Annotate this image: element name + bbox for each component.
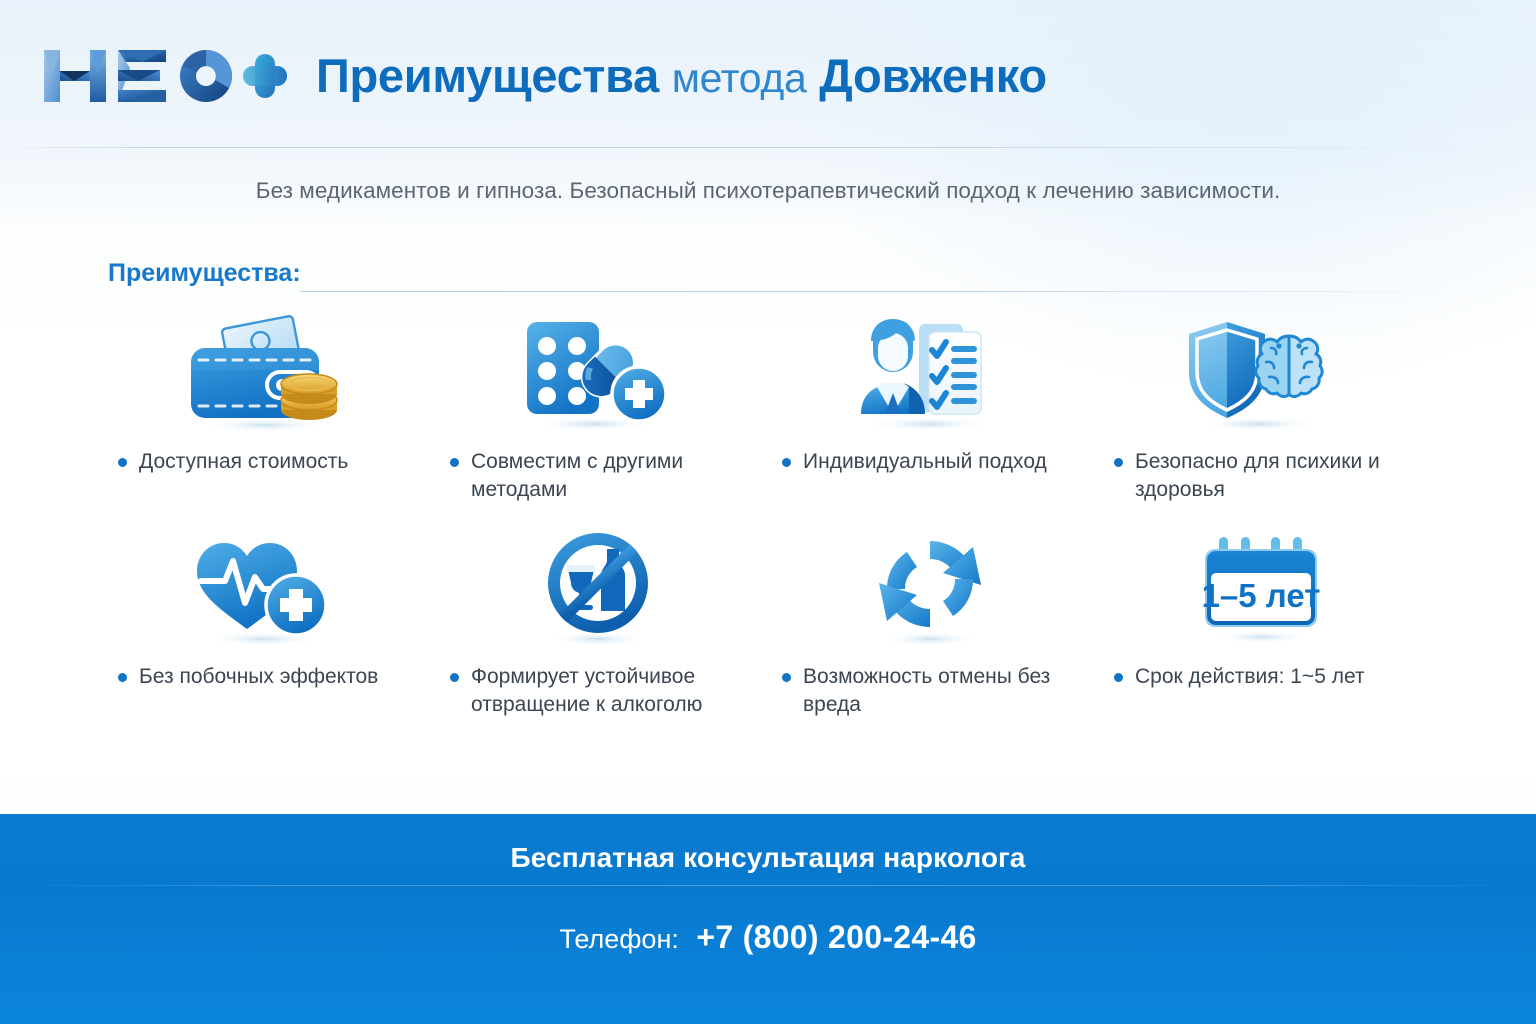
doctor-checklist-icon: [764, 310, 1096, 438]
shield-brain-icon: [1096, 310, 1428, 438]
benefit-item: Доступная стоимость: [100, 310, 432, 525]
footer: Бесплатная консультация нарколога Телефо…: [0, 814, 1536, 1024]
benefit-label: Без побочных эффектов: [139, 663, 378, 691]
neo-plus-logo-icon: [38, 40, 290, 112]
bullet-icon: [450, 673, 459, 682]
benefit-label: Индивидуальный подход: [803, 448, 1047, 476]
benefit-label-row: Формирует устойчивое отвращение к алкого…: [432, 663, 750, 718]
bullet-icon: [118, 458, 127, 467]
bullet-icon: [450, 458, 459, 467]
benefit-label: Совместим с другими методами: [471, 448, 750, 503]
bullet-icon: [1114, 458, 1123, 467]
calendar-icon-text: 1–5 лет: [1202, 577, 1321, 614]
benefit-label-row: Совместим с другими методами: [432, 448, 750, 503]
phone-number[interactable]: +7 (800) 200-24-46: [696, 919, 976, 955]
page-title-part1: Преимущества: [316, 49, 659, 102]
benefit-label: Возможность отмены без вреда: [803, 663, 1082, 718]
page-title-part3: Довженко: [819, 49, 1046, 102]
benefit-item: Безопасно для психики и здоровья: [1096, 310, 1428, 525]
infographic-poster: Преимущества метода Довженко Без медикам…: [0, 0, 1536, 1024]
bullet-icon: [118, 673, 127, 682]
benefit-item: Возможность отмены без вреда: [764, 525, 1096, 740]
header-divider: [0, 147, 1536, 148]
phone-label: Телефон:: [559, 924, 679, 954]
section-heading: Преимущества:: [108, 259, 301, 288]
bullet-icon: [1114, 673, 1123, 682]
header: Преимущества метода Довженко: [0, 0, 1536, 148]
benefit-item: 1–5 лет Срок действия: 1~5 лет: [1096, 525, 1428, 740]
section-divider: [300, 291, 1480, 292]
footer-title: Бесплатная консультация нарколога: [0, 842, 1536, 874]
benefit-item: Совместим с другими методами: [432, 310, 764, 525]
benefit-label-row: Возможность отмены без вреда: [764, 663, 1082, 718]
calendar-icon: 1–5 лет: [1096, 525, 1428, 653]
bullet-icon: [782, 458, 791, 467]
benefit-label: Доступная стоимость: [139, 448, 348, 476]
benefits-grid: Доступная стоимость: [100, 310, 1430, 740]
benefit-label: Безопасно для психики и здоровья: [1135, 448, 1414, 503]
benefit-label-row: Индивидуальный подход: [764, 448, 1047, 476]
page-title: Преимущества метода Довженко: [316, 52, 1047, 99]
benefit-label: Срок действия: 1~5 лет: [1135, 663, 1365, 691]
page-title-part2: метода: [672, 55, 807, 101]
bullet-icon: [782, 673, 791, 682]
benefit-label-row: Срок действия: 1~5 лет: [1096, 663, 1365, 691]
wallet-coins-icon: [100, 310, 432, 438]
benefit-label: Формирует устойчивое отвращение к алкого…: [471, 663, 750, 718]
footer-divider: [0, 885, 1536, 886]
benefit-item: Формирует устойчивое отвращение к алкого…: [432, 525, 764, 740]
pills-capsule-plus-icon: [432, 310, 764, 438]
benefit-label-row: Доступная стоимость: [100, 448, 348, 476]
heart-pulse-plus-icon: [100, 525, 432, 653]
no-alcohol-icon: [432, 525, 764, 653]
refresh-arrows-icon: [764, 525, 1096, 653]
benefit-label-row: Безопасно для психики и здоровья: [1096, 448, 1414, 503]
benefit-item: Без побочных эффектов: [100, 525, 432, 740]
footer-phone: Телефон: +7 (800) 200-24-46: [0, 919, 1536, 956]
benefit-label-row: Без побочных эффектов: [100, 663, 378, 691]
subtitle: Без медикаментов и гипноза. Безопасный п…: [0, 178, 1536, 204]
benefit-item: Индивидуальный подход: [764, 310, 1096, 525]
